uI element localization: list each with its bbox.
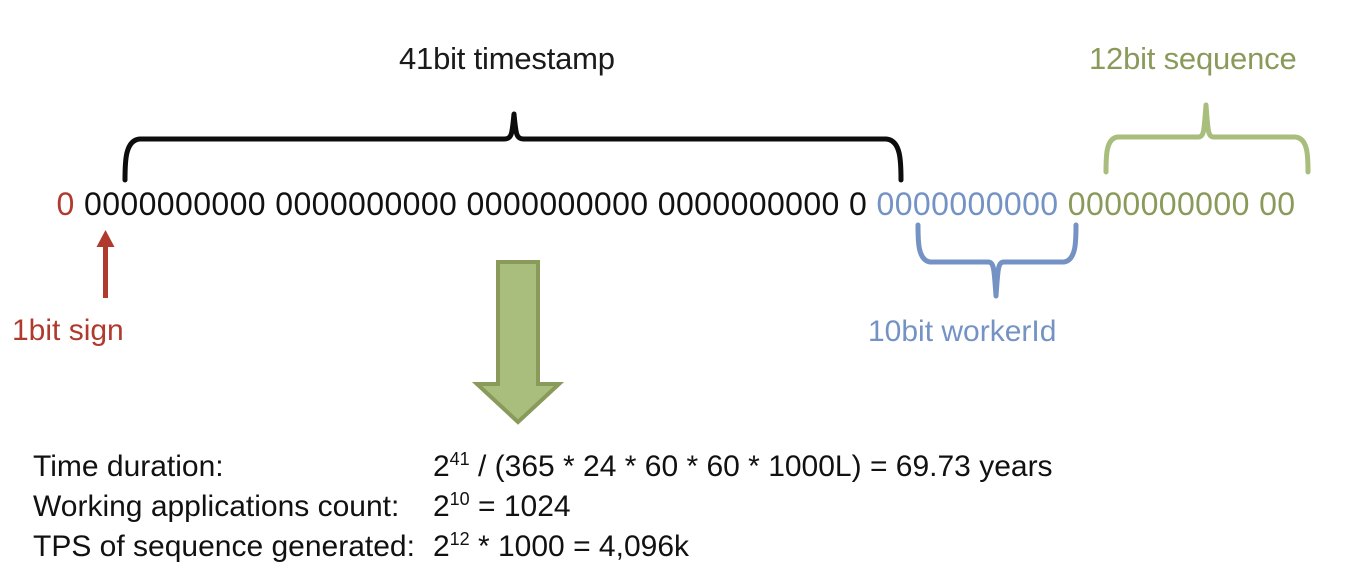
stat-exponent: 41 — [450, 449, 470, 469]
stat-value: 241 / (365 * 24 * 60 * 60 * 1000L) = 69.… — [433, 452, 1053, 492]
stat-exponent: 10 — [450, 489, 470, 509]
workerid-bits: 0000000000 — [867, 188, 1058, 220]
stat-label: TPS of sequence generated: — [33, 532, 433, 572]
sign-bit: 0 — [57, 188, 75, 220]
table-row: Working applications count: 210 = 1024 — [33, 492, 1053, 532]
stat-exponent: 12 — [450, 529, 470, 549]
sign-up-arrow-icon — [92, 228, 122, 300]
timestamp-brace-icon — [118, 112, 908, 182]
workerid-group-label: 10bit workerId — [868, 317, 1056, 347]
stat-base: 2 — [433, 490, 450, 523]
snowflake-id-bit-layout-diagram: 41bit timestamp 12bit sequence 0 0000000… — [0, 0, 1352, 588]
table-row: TPS of sequence generated: 212 * 1000 = … — [33, 532, 1053, 572]
stat-label: Working applications count: — [33, 492, 433, 532]
sign-group-label: 1bit sign — [12, 316, 124, 346]
stat-value: 212 * 1000 = 4,096k — [433, 532, 1053, 572]
table-row: Time duration: 241 / (365 * 24 * 60 * 60… — [33, 452, 1053, 492]
timestamp-group-label: 41bit timestamp — [399, 43, 615, 74]
workerid-brace-icon — [912, 222, 1084, 300]
stat-value: 210 = 1024 — [433, 492, 1053, 532]
stat-base: 2 — [433, 530, 450, 563]
stat-label: Time duration: — [33, 452, 433, 492]
sequence-group-label: 12bit sequence — [1089, 43, 1296, 74]
stat-expression: / (365 * 24 * 60 * 60 * 1000L) = 69.73 y… — [470, 450, 1053, 483]
stats-table: Time duration: 241 / (365 * 24 * 60 * 60… — [33, 452, 1053, 572]
stat-base: 2 — [433, 450, 450, 483]
sequence-bits: 0000000000 00 — [1059, 188, 1296, 220]
stat-expression: = 1024 — [470, 490, 571, 523]
timestamp-bits: 0000000000 0000000000 0000000000 0000000… — [75, 188, 868, 220]
green-down-arrow-icon — [470, 258, 566, 426]
bit-string-row: 0 0000000000 0000000000 0000000000 00000… — [0, 184, 1352, 224]
stat-expression: * 1000 = 4,096k — [470, 530, 689, 563]
stats-table-body: Time duration: 241 / (365 * 24 * 60 * 60… — [33, 452, 1053, 572]
sequence-brace-icon — [1100, 102, 1315, 174]
